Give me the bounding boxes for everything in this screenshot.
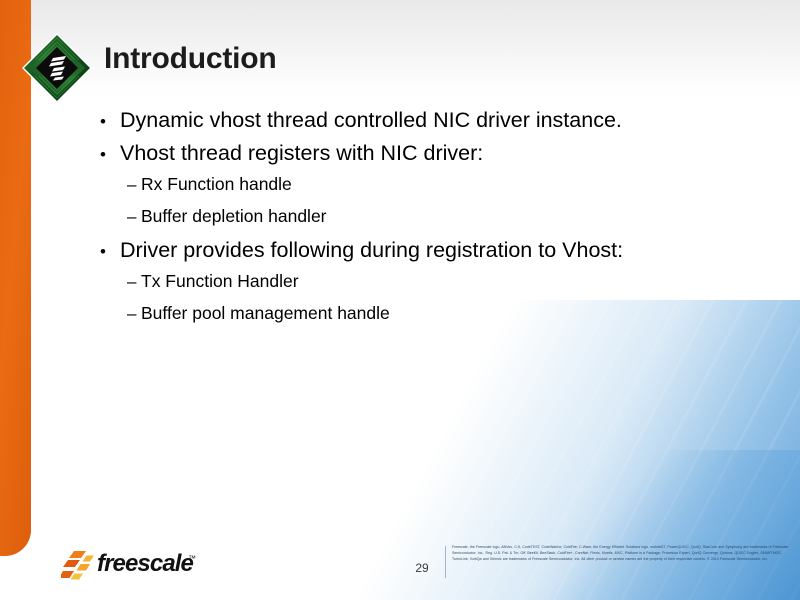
list-item: – Buffer depletion handler [100,206,760,227]
dash-marker-icon: – [127,176,141,193]
freescale-wordmark: freescale [97,552,193,576]
slide-body-list: • Dynamic vhost thread controlled NIC dr… [100,108,760,335]
footer-divider [445,546,446,578]
list-item: – Buffer pool management handle [100,303,760,324]
page-number: 29 [408,561,436,575]
dash-marker-icon: – [127,208,141,225]
freescale-footer-logo: freescale ™ [61,548,203,582]
list-item-label: Buffer pool management handle [141,303,760,324]
list-item: • Dynamic vhost thread controlled NIC dr… [100,108,760,133]
list-item: • Driver provides following during regis… [100,238,760,263]
list-item-label: Buffer depletion handler [141,206,760,227]
list-item: • Vhost thread registers with NIC driver… [100,141,760,166]
list-item-label: Dynamic vhost thread controlled NIC driv… [120,108,760,133]
bullet-marker-icon: • [100,146,120,163]
legal-disclaimer-text: Freescale, the Freescale logo, AltiVec, … [452,544,794,562]
bullet-marker-icon: • [100,113,120,130]
list-item-label: Vhost thread registers with NIC driver: [120,141,760,166]
freescale-mark-icon [61,550,95,582]
dash-marker-icon: – [127,305,141,322]
list-item: – Rx Function handle [100,174,760,195]
background-blue-corner [550,450,800,600]
list-item: – Tx Function Handler [100,271,760,292]
trademark-symbol: ™ [188,554,196,563]
slide-canvas: Introduction • Dynamic vhost thread cont… [0,0,800,600]
dash-marker-icon: – [127,273,141,290]
list-item-label: Tx Function Handler [141,271,760,292]
bullet-marker-icon: • [100,243,120,260]
list-item-label: Driver provides following during registr… [120,238,760,263]
freescale-diamond-logo-icon [21,32,93,104]
page-title: Introduction [104,44,277,74]
list-item-label: Rx Function handle [141,174,760,195]
